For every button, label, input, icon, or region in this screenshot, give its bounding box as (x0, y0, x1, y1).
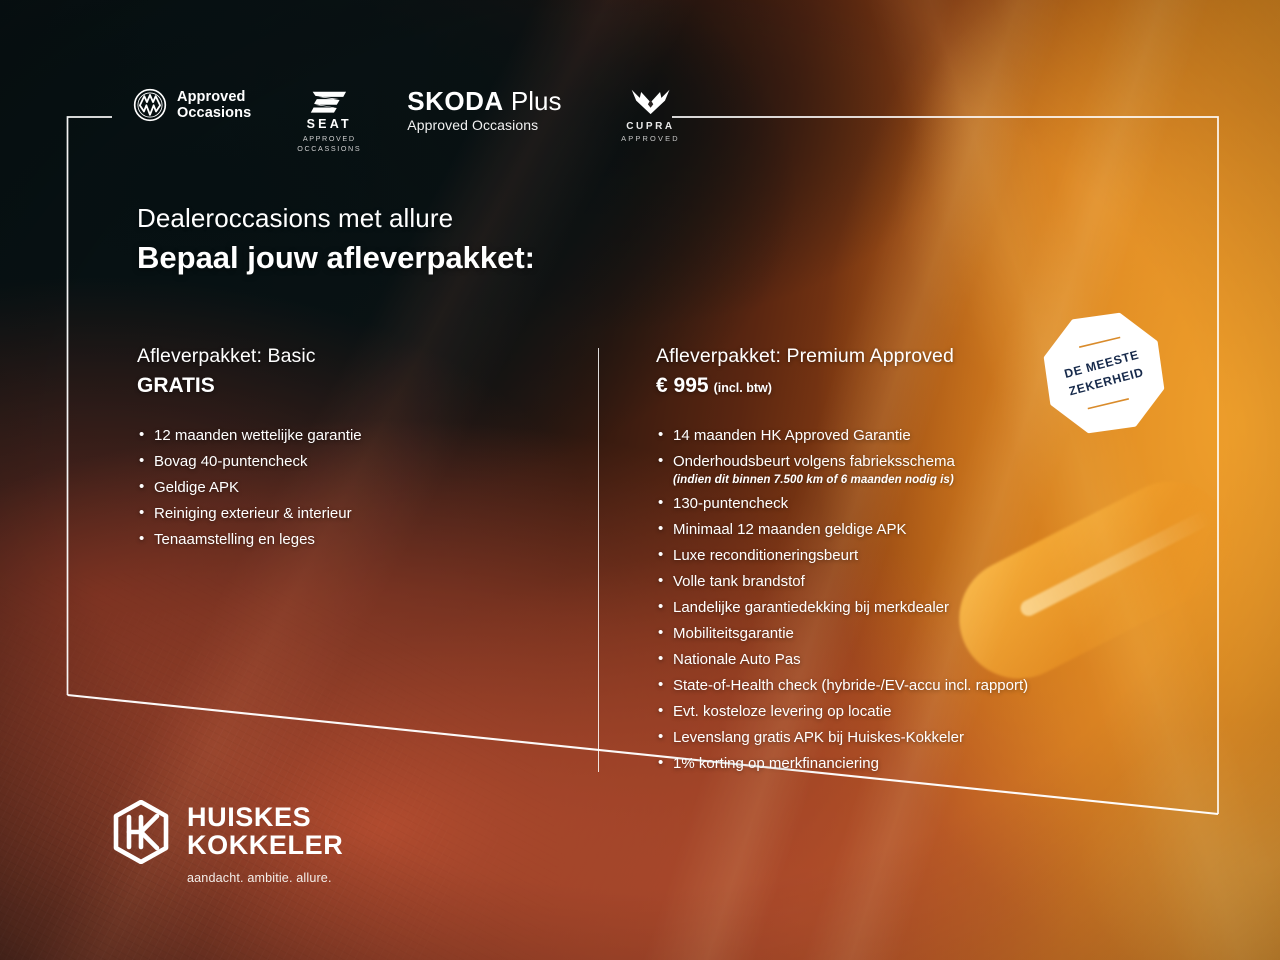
company-tagline: aandacht. ambitie. allure. (187, 871, 343, 885)
company-wordmark: HUISKES KOKKELER (187, 804, 343, 860)
list-item: Nationale Auto Pas (656, 652, 1176, 667)
brand-volkswagen: Approved Occasions (133, 88, 251, 122)
page-title: Bepaal jouw afleverpakket: (137, 240, 535, 276)
skoda-wordmark: SKODA (407, 86, 503, 116)
list-item-text: Onderhoudsbeurt volgens fabrieksschema (673, 453, 955, 470)
list-item: Levenslang gratis APK bij Huiskes-Kokkel… (656, 730, 1176, 745)
company-name-line2: KOKKELER (187, 832, 343, 860)
list-item-text: Landelijke garantiedekking bij merkdeale… (673, 599, 949, 616)
cupra-approved-label: APPROVED (607, 134, 693, 143)
vw-logo-wordmark: Approved Occasions (177, 89, 251, 121)
seat-subline: APPROVED OCCASSIONS (293, 134, 365, 153)
package-basic-feature-list: 12 maanden wettelijke garantie Bovag 40-… (137, 428, 567, 547)
list-item-text: 130-puntencheck (673, 495, 788, 512)
vw-occasions-label: Occasions (177, 105, 251, 121)
list-item-text: Levenslang gratis APK bij Huiskes-Kokkel… (673, 729, 964, 746)
list-item: 12 maanden wettelijke garantie (137, 428, 567, 443)
list-item: Mobiliteitsgarantie (656, 626, 1176, 641)
company-logo-row: HUISKES KOKKELER (112, 800, 343, 864)
list-item-note: (indien dit binnen 7.500 km of 6 maanden… (673, 474, 1176, 486)
seat-occassions-label: OCCASSIONS (293, 144, 365, 154)
list-item: Reiniging exterieur & interieur (137, 506, 567, 521)
list-item: Onderhoudsbeurt volgens fabrieksschema(i… (656, 454, 1176, 486)
hk-monogram-icon (112, 800, 170, 864)
list-item-text: 1% korting op merkfinanciering (673, 755, 879, 772)
brand-seat: SEAT APPROVED OCCASSIONS (293, 88, 365, 153)
skoda-plus-label: Plus (504, 86, 562, 116)
seat-logo-icon (308, 88, 351, 114)
vw-logo-icon (133, 88, 167, 122)
cupra-logo-icon (629, 88, 672, 115)
skoda-logo-icon: SKODA Plus (407, 88, 561, 114)
headline-kicker: Dealeroccasions met allure (137, 203, 535, 234)
list-item: State-of-Health check (hybride-/EV-accu … (656, 678, 1176, 693)
vw-approved-label: Approved (177, 89, 251, 105)
seat-approved-label: APPROVED (293, 134, 365, 144)
list-item-text: State-of-Health check (hybride-/EV-accu … (673, 677, 1028, 694)
list-item: Minimaal 12 maanden geldige APK (656, 522, 1176, 537)
package-premium-price: € 995 (656, 374, 709, 397)
brand-skoda: SKODA Plus Approved Occasions (407, 88, 561, 133)
status-badge: DE MEESTE ZEKERHEID (1035, 304, 1173, 442)
headline-block: Dealeroccasions met allure Bepaal jouw a… (137, 203, 535, 276)
cupra-wordmark: CUPRA (607, 121, 693, 132)
package-basic-name: Afleverpakket: Basic (137, 345, 567, 368)
list-item: 130-puntencheck (656, 496, 1176, 511)
list-item-text: Volle tank brandstof (673, 573, 805, 590)
brand-logo-bar: Approved Occasions SEAT APPROVED OCCASSI… (133, 88, 693, 156)
package-basic: Afleverpakket: Basic GRATIS 12 maanden w… (137, 345, 567, 558)
list-item-text: Evt. kosteloze levering op locatie (673, 703, 891, 720)
list-item-text: Mobiliteitsgarantie (673, 625, 794, 642)
list-item-text: 14 maanden HK Approved Garantie (673, 427, 911, 444)
list-item-text: Minimaal 12 maanden geldige APK (673, 521, 906, 538)
package-premium-vat-note: (incl. btw) (714, 381, 772, 395)
skoda-subline: Approved Occasions (407, 117, 561, 133)
company-name-line1: HUISKES (187, 804, 343, 832)
list-item: 1% korting op merkfinanciering (656, 756, 1176, 771)
package-premium-feature-list: 14 maanden HK Approved Garantie Onderhou… (656, 428, 1176, 771)
promo-banner: Approved Occasions SEAT APPROVED OCCASSI… (0, 0, 1280, 960)
brand-cupra: CUPRA APPROVED (607, 88, 693, 143)
list-item-text: Nationale Auto Pas (673, 651, 801, 668)
list-item: Volle tank brandstof (656, 574, 1176, 589)
list-item: Bovag 40-puntencheck (137, 454, 567, 469)
column-divider (598, 348, 599, 772)
list-item: Evt. kosteloze levering op locatie (656, 704, 1176, 719)
list-item: Luxe reconditioneringsbeurt (656, 548, 1176, 563)
seat-wordmark: SEAT (293, 117, 365, 131)
list-item: Landelijke garantiedekking bij merkdeale… (656, 600, 1176, 615)
list-item-text: Luxe reconditioneringsbeurt (673, 547, 858, 564)
list-item: Geldige APK (137, 480, 567, 495)
package-basic-price: GRATIS (137, 374, 567, 398)
company-logo: HUISKES KOKKELER aandacht. ambitie. allu… (112, 800, 343, 885)
list-item: Tenaamstelling en leges (137, 532, 567, 547)
